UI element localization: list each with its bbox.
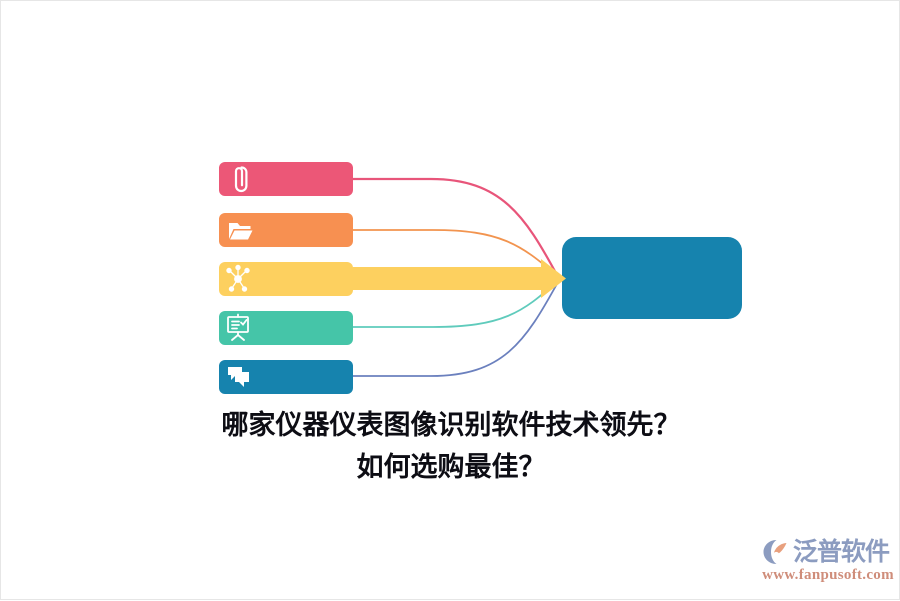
watermark-url-text: www.fanpusoft.com — [761, 567, 895, 584]
item-bar-1-group[interactable] — [219, 162, 353, 196]
watermark-brand-row: 泛普软件 — [761, 535, 893, 569]
connector-line-1 — [353, 179, 557, 275]
item-bar-3-group[interactable] — [219, 262, 353, 296]
highlight-arrow — [353, 259, 566, 298]
page-title: 哪家仪器仪表图像识别软件技术领先？ 如何选购最佳？ — [1, 405, 900, 489]
process-diagram — [1, 1, 900, 601]
watermark: 泛普软件 www.fanpusoft.com — [761, 535, 893, 591]
item-bar-4-group[interactable] — [219, 311, 353, 345]
connector-line-5 — [353, 282, 558, 376]
headline-line-1: 哪家仪器仪表图像识别软件技术领先？ — [1, 405, 900, 447]
watermark-brand-text: 泛普软件 — [793, 537, 889, 567]
headline-line-2: 如何选购最佳？ — [1, 447, 900, 489]
fanpu-logo-icon — [761, 537, 791, 567]
target-box[interactable] — [562, 237, 742, 319]
screenshot-canvas: 哪家仪器仪表图像识别软件技术领先？ 如何选购最佳？ 泛普软件 www.fanpu… — [0, 0, 900, 600]
item-bar-5-group[interactable] — [219, 360, 353, 394]
item-bar-2[interactable] — [219, 213, 353, 247]
item-bar-2-group[interactable] — [219, 213, 353, 247]
